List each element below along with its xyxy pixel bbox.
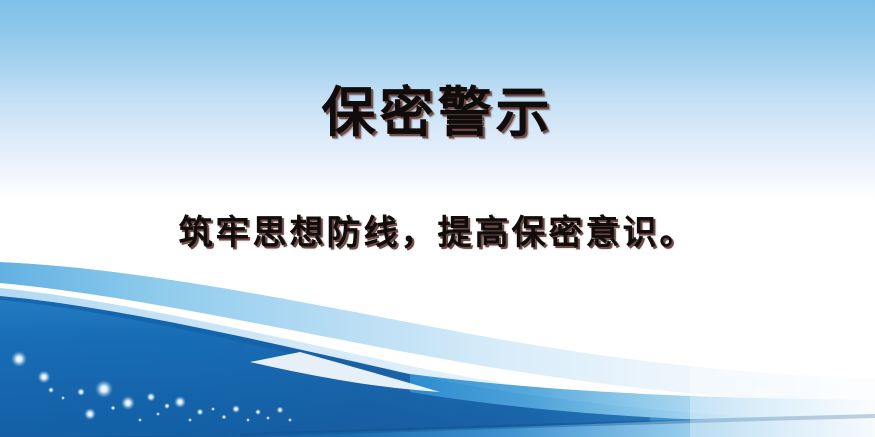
page-subtitle: 筑牢思想防线，提高保密意识。 [0,210,875,256]
text-layer: 保密警示 筑牢思想防线，提高保密意识。 [0,0,875,437]
secrecy-warning-banner: 保密警示 筑牢思想防线，提高保密意识。 [0,0,875,437]
page-title: 保密警示 [0,82,875,144]
